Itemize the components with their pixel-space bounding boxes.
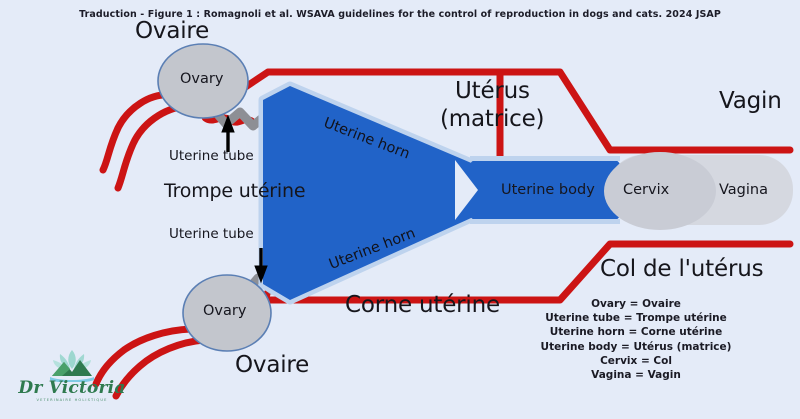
logo-name: Dr Victoria [18, 378, 126, 398]
label-vagin: Vagin [719, 88, 782, 114]
label-ovary-bottom: Ovary [203, 303, 246, 319]
label-trompe-uterine: Trompe utérine [164, 180, 305, 202]
legend-line: Uterine body = Utérus (matrice) [520, 340, 752, 354]
legend-line: Cervix = Col [520, 354, 752, 368]
translation-legend: Ovary = Ovaire Uterine tube = Trompe uté… [520, 297, 752, 382]
logo-subtitle: VETERINAIRE HOLISTIQUE [18, 398, 126, 402]
label-uterine-body: Uterine body [501, 182, 595, 198]
legend-line: Vagina = Vagin [520, 368, 752, 382]
label-corne-uterine: Corne utérine [345, 292, 500, 318]
lotus-mountain-icon [18, 348, 126, 382]
logo: Dr Victoria VETERINAIRE HOLISTIQUE [18, 348, 126, 410]
label-cervix: Cervix [623, 182, 669, 198]
label-uterus-line2: (matrice) [440, 106, 544, 132]
figure-canvas: Traduction - Figure 1 : Romagnoli et al.… [0, 0, 800, 419]
legend-line: Ovary = Ovaire [520, 297, 752, 311]
label-ovary-top: Ovary [180, 71, 223, 87]
label-uterine-tube-bottom: Uterine tube [169, 226, 254, 242]
label-ovaire-bottom: Ovaire [235, 352, 309, 378]
legend-line: Uterine horn = Corne utérine [520, 325, 752, 339]
label-uterine-tube-top: Uterine tube [169, 148, 254, 164]
label-vagina: Vagina [719, 182, 768, 198]
legend-line: Uterine tube = Trompe utérine [520, 311, 752, 325]
label-col-de-luterus: Col de l'utérus [600, 256, 763, 282]
label-uterus-line1: Utérus [455, 78, 530, 104]
label-ovaire-top: Ovaire [135, 18, 209, 44]
